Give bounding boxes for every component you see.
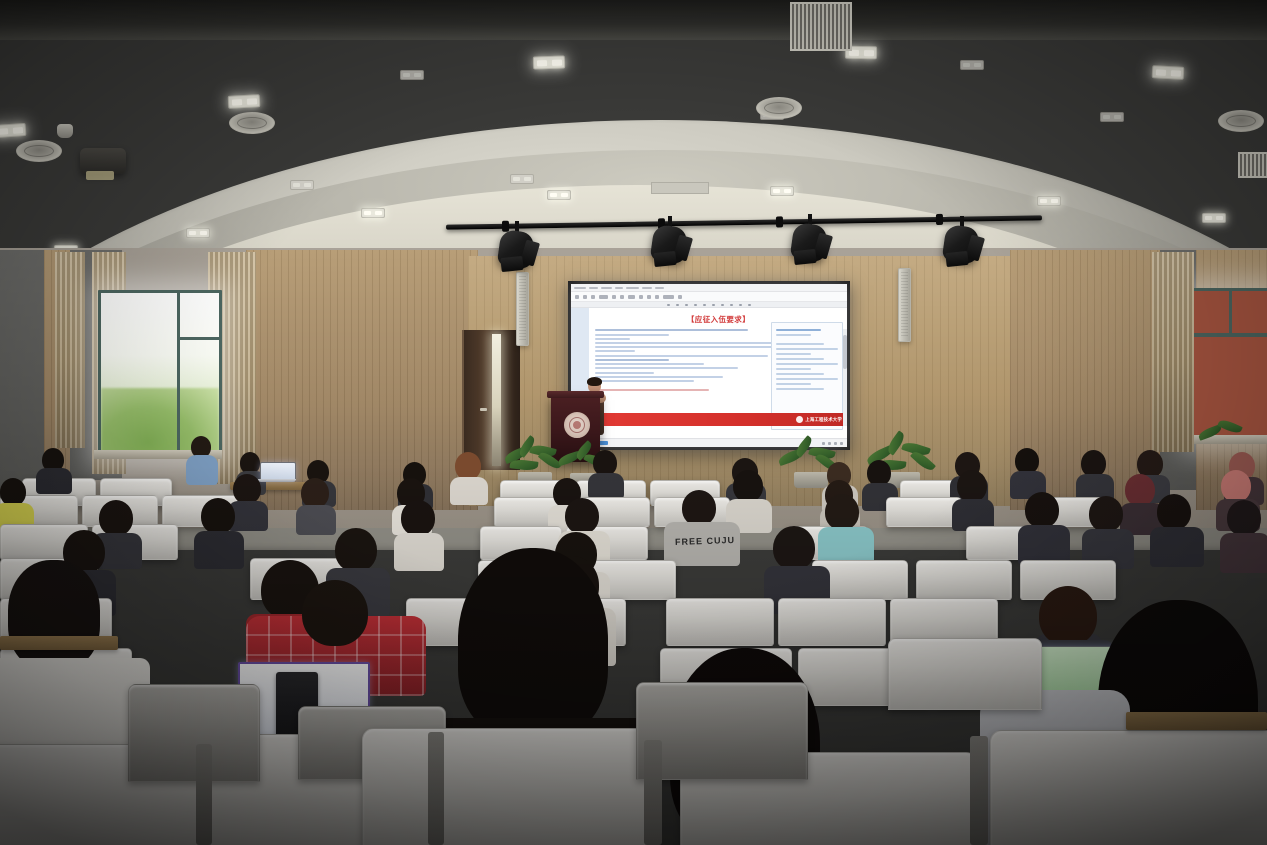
projection-screen: 【应征入伍要求】 (571, 284, 847, 447)
curtain-right (1152, 252, 1194, 452)
plant-leaf (1217, 418, 1243, 436)
slide-page: 【应征入伍要求】 (589, 308, 847, 434)
person-head (455, 452, 481, 480)
person-torso (186, 455, 218, 485)
lecture-hall-photo: 【应征入伍要求】 (0, 0, 1267, 845)
nav-item (776, 368, 811, 370)
auditorium-seat (886, 497, 962, 527)
slide-scrollbar[interactable] (843, 329, 847, 426)
slide-text-line (595, 376, 723, 378)
person-head (0, 478, 26, 506)
ceiling-downlight (1100, 112, 1124, 122)
ceiling-downlight (533, 55, 565, 69)
ceiling-vent (651, 182, 709, 194)
slide-text-line (595, 372, 654, 374)
window-mullion (177, 337, 219, 340)
person-head (401, 500, 435, 536)
ceiling-vent (790, 2, 852, 51)
ceiling-downlight (547, 190, 571, 200)
truss-clamp (776, 216, 783, 227)
person-torso (36, 468, 72, 494)
person-head (773, 526, 815, 570)
podium-top (547, 391, 604, 398)
person-torso (1018, 525, 1070, 565)
person-head (233, 474, 261, 504)
stage-spotlight (650, 222, 692, 274)
curtain-left-outer (55, 252, 85, 448)
person-head (99, 500, 133, 536)
ceiling-downlight (228, 94, 261, 109)
ceiling-speaker-grille (229, 112, 275, 134)
shirt-graphic-text: FREE CUJU (675, 535, 735, 547)
person-head (1025, 492, 1059, 528)
person-torso (1150, 527, 1204, 567)
auditorium-seat-foreground (990, 730, 1267, 845)
person-torso (1220, 533, 1267, 573)
person-torso (588, 473, 624, 499)
slide-footer-logo: 上海工程技术大学 (796, 416, 842, 423)
nav-item (776, 363, 838, 365)
presenter-hair (587, 377, 602, 386)
nav-item (776, 334, 811, 336)
ceiling-vent (1238, 152, 1267, 178)
ceiling-downlight (290, 180, 314, 190)
auditorium-seat-foreground (362, 728, 648, 845)
ceiling-speaker-grille (756, 97, 802, 119)
auditorium-seat (916, 560, 1012, 600)
ceiling-downlight (186, 228, 210, 238)
slide-app-menubar (571, 284, 847, 292)
desk-surface (1126, 712, 1267, 730)
nav-item (776, 378, 838, 380)
person-head (335, 528, 377, 572)
laptop-base (258, 479, 296, 482)
seat-armrest (428, 732, 444, 845)
door-handle[interactable] (480, 408, 487, 411)
auditorium-seat (666, 598, 774, 646)
slide-text-line (595, 363, 704, 365)
seat-armrest (196, 744, 212, 845)
window-mullion (177, 293, 180, 456)
auditorium-seat-foreground (128, 684, 260, 782)
ceiling-downlight (960, 60, 984, 70)
window-left (98, 290, 222, 459)
person-head (302, 580, 368, 646)
desk-surface (0, 636, 118, 650)
person-head (957, 470, 987, 502)
spotlight-barndoor (653, 251, 676, 267)
slide-text-line (595, 329, 748, 331)
ceiling-downlight (0, 123, 26, 138)
person-head (1157, 494, 1191, 530)
ceiling-downlight (1202, 213, 1226, 223)
plant-leaf (509, 458, 538, 472)
wall-speaker-left (516, 272, 529, 346)
spotlight-barndoor (500, 256, 523, 272)
person-head (825, 494, 859, 530)
person-head (1221, 470, 1251, 502)
slide-text-line (595, 346, 793, 348)
person-head (1089, 496, 1123, 532)
person-torso (394, 533, 444, 571)
person-torso (450, 477, 488, 505)
ceiling-downlight (361, 208, 385, 218)
person-head (1039, 586, 1097, 646)
person-head (1125, 474, 1155, 506)
person-torso (296, 505, 336, 535)
person-head (1081, 450, 1106, 477)
spotlight-barndoor (793, 249, 816, 265)
slide-text-line (595, 367, 738, 369)
nav-item (776, 348, 838, 350)
potted-plant (1196, 418, 1262, 462)
smoke-detector (57, 124, 73, 138)
nav-item (776, 388, 824, 390)
slide-text-line-highlight (595, 389, 709, 391)
ceiling-downlight (510, 174, 534, 184)
window-mullion (1229, 291, 1232, 333)
ceiling-speaker-grille (16, 140, 62, 162)
person-head (565, 498, 599, 534)
person-head (201, 498, 235, 534)
person-head (682, 490, 716, 526)
auditorium-seat-foreground (888, 638, 1042, 710)
stage-spotlight (790, 220, 832, 272)
person-head (8, 560, 100, 670)
slide-text-line (595, 338, 630, 340)
slide-footer-logo-text: 上海工程技术大学 (805, 417, 842, 423)
plant-pot (794, 472, 828, 488)
projection-screen-frame: 【应征入伍要求】 (568, 281, 850, 450)
ceiling-downlight (1152, 65, 1185, 80)
nav-item (776, 373, 824, 375)
nav-item (776, 343, 824, 345)
ceiling-downlight (400, 70, 424, 80)
nav-item (776, 358, 824, 360)
person-head (1227, 500, 1261, 536)
slide-footer-banner: 上海工程技术大学 (589, 413, 847, 426)
slide-text-line (595, 380, 694, 382)
nav-item (776, 353, 811, 355)
ceiling-downlight (1037, 196, 1061, 206)
slide-text-line (595, 355, 768, 357)
laptop[interactable] (260, 462, 294, 482)
slide-text-line (595, 350, 635, 352)
stage-spotlight (942, 222, 984, 274)
person-head (458, 548, 608, 738)
seat-armrest (644, 740, 662, 845)
ceiling-projector (80, 148, 126, 174)
person-head (733, 470, 763, 502)
university-seal-icon (796, 416, 803, 423)
university-crest-icon (564, 412, 590, 438)
spotlight-barndoor (945, 251, 968, 267)
slide-app-toolbar (571, 292, 847, 302)
stage-spotlight (497, 227, 539, 279)
person-head (301, 478, 329, 508)
slide-text-line (595, 334, 669, 336)
auditorium-seat (778, 598, 886, 646)
nav-item (776, 383, 811, 385)
slide-document-body: 【应征入伍要求】 (571, 308, 847, 434)
wall-speaker-right (898, 268, 911, 342)
ceiling-dark-strip (0, 0, 1267, 40)
slide-text-line (595, 359, 669, 361)
window-mullion (1193, 333, 1267, 337)
ceiling-speaker-grille (1218, 110, 1264, 132)
nav-item (776, 329, 821, 331)
seat-armrest (970, 736, 988, 845)
person-torso (194, 531, 244, 569)
ceiling-downlight (770, 186, 794, 196)
